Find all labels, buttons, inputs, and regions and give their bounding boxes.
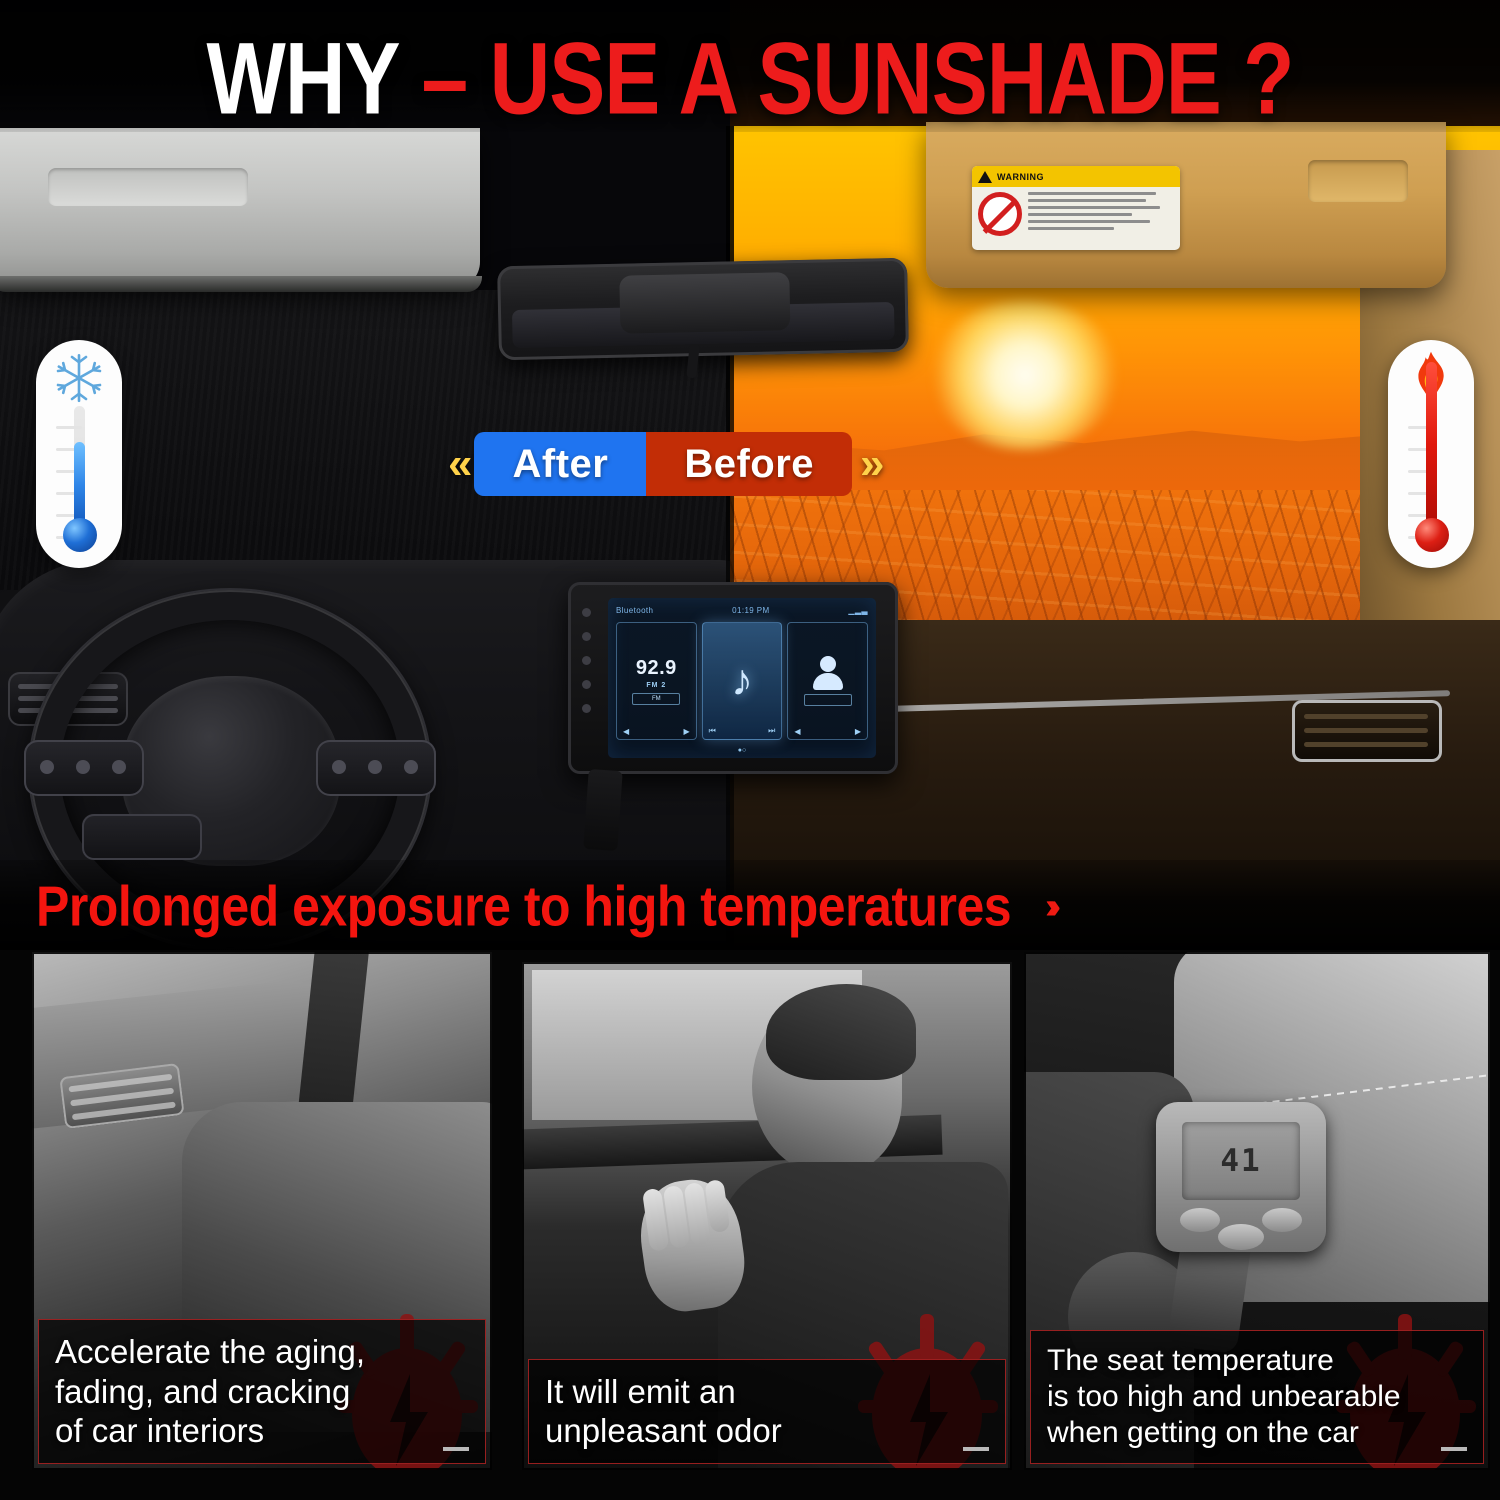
rear-headrest-reflection bbox=[619, 272, 790, 334]
clock-label: 01:19 PM bbox=[732, 606, 769, 615]
panel-unpleasant-odor: It will emit an unpleasant odor bbox=[522, 962, 1012, 1470]
media-card[interactable]: ♪ ⏮ ⏭ bbox=[702, 622, 783, 740]
steering-control-right bbox=[316, 740, 436, 796]
subtitle-text: Prolonged exposure to high temperatures bbox=[36, 873, 1011, 939]
title-use-a-sunshade: – USE A SUNSHADE ? bbox=[400, 27, 1294, 129]
caption-line: of car interiors bbox=[55, 1411, 471, 1451]
radio-preset-chip[interactable]: FM bbox=[632, 693, 680, 705]
visor-mirror-slot bbox=[1308, 160, 1408, 202]
media-controls[interactable]: ⏮ ⏭ bbox=[709, 726, 776, 736]
chevron-left-icon: « bbox=[440, 439, 474, 489]
sun-icon bbox=[930, 300, 1120, 450]
warning-bar: WARNING bbox=[972, 166, 1180, 187]
man-hair bbox=[766, 984, 916, 1080]
head-unit-side-buttons[interactable] bbox=[582, 608, 591, 713]
sun-visor-tan: WARNING bbox=[926, 122, 1446, 288]
caption-line: is too high and unbearable bbox=[1047, 1379, 1469, 1415]
media-prev-icon[interactable]: ⏮ bbox=[709, 726, 716, 736]
infrared-thermometer: 41 bbox=[1156, 1102, 1326, 1252]
caption-underscore bbox=[963, 1447, 989, 1451]
thermometer-button-left[interactable] bbox=[1180, 1208, 1220, 1232]
before-after-toggle[interactable]: « After Before » bbox=[440, 432, 887, 496]
rearview-mirror bbox=[497, 258, 909, 361]
panel-3-caption: The seat temperature is too high and unb… bbox=[1030, 1330, 1484, 1464]
thermometer-mercury-hot bbox=[1426, 362, 1437, 528]
split-seam bbox=[726, 126, 734, 950]
sun-visor-cool bbox=[0, 128, 480, 288]
visor-warning-label: WARNING bbox=[972, 166, 1180, 250]
caption-underscore bbox=[443, 1447, 469, 1451]
page-indicator: ●○ bbox=[608, 747, 876, 754]
infographic-root: WARNING bbox=[0, 0, 1500, 1500]
infotainment-screen[interactable]: Bluetooth 01:19 PM ▁▂▃ 92.9 FM 2 FM ◀ ▶ bbox=[608, 598, 876, 758]
no-rear-facing-child-seat-icon bbox=[978, 192, 1022, 236]
thermometer-display: 41 bbox=[1182, 1122, 1300, 1200]
warning-body bbox=[972, 187, 1180, 241]
caption-line: It will emit an bbox=[545, 1372, 991, 1412]
home-button-icon[interactable] bbox=[582, 632, 591, 641]
phone-nav-arrows[interactable]: ◀ ▶ bbox=[794, 727, 861, 736]
radio-frequency: 92.9 bbox=[636, 658, 677, 678]
media-next-icon[interactable]: ⏭ bbox=[768, 726, 775, 736]
steering-control-left bbox=[24, 740, 144, 796]
radio-band: FM 2 bbox=[646, 682, 666, 689]
consequence-panels: Accelerate the aging, fading, and cracki… bbox=[0, 952, 1500, 1500]
media-button-icon[interactable] bbox=[582, 680, 591, 689]
caption-line: unpleasant odor bbox=[545, 1411, 991, 1451]
sun-visor-cool-edge bbox=[0, 276, 482, 292]
caption-line: Accelerate the aging, bbox=[55, 1332, 471, 1372]
thermometer-bulb-hot bbox=[1415, 518, 1449, 552]
hot-thermometer bbox=[1388, 340, 1474, 568]
phone-prev-icon[interactable]: ◀ bbox=[794, 727, 800, 736]
steering-wheel-lower-pad bbox=[82, 814, 202, 860]
volume-button-icon[interactable] bbox=[582, 656, 591, 665]
caption-line: when getting on the car bbox=[1047, 1415, 1469, 1451]
thermometer-bulb-cold bbox=[63, 518, 97, 552]
panel-2-caption: It will emit an unpleasant odor bbox=[528, 1359, 1006, 1464]
temperature-reading: 41 bbox=[1220, 1143, 1261, 1179]
warning-text-lines bbox=[1028, 192, 1160, 236]
bluetooth-status-label: Bluetooth bbox=[616, 606, 653, 615]
music-note-icon: ♪ bbox=[731, 659, 753, 703]
menu-button-icon[interactable] bbox=[582, 704, 591, 713]
chevron-right-icon: » bbox=[852, 439, 886, 489]
snowflake-icon bbox=[36, 350, 122, 413]
title-why: WHY bbox=[207, 27, 400, 129]
panel-interior-aging: Accelerate the aging, fading, and cracki… bbox=[32, 952, 492, 1470]
air-vent-right bbox=[1292, 700, 1442, 762]
caption-line: The seat temperature bbox=[1047, 1343, 1469, 1379]
infotainment-head-unit: Bluetooth 01:19 PM ▁▂▃ 92.9 FM 2 FM ◀ ▶ bbox=[568, 582, 898, 774]
phone-chip[interactable] bbox=[804, 694, 852, 706]
contact-person-icon bbox=[813, 656, 843, 690]
radio-next-icon[interactable]: ▶ bbox=[684, 727, 690, 736]
power-button-icon[interactable] bbox=[582, 608, 591, 617]
caption-line: fading, and cracking bbox=[55, 1372, 471, 1412]
panel-1-caption: Accelerate the aging, fading, and cracki… bbox=[38, 1319, 486, 1464]
panel-seat-temperature: 41 The seat temper bbox=[1024, 952, 1490, 1470]
signal-icon: ▁▂▃ bbox=[848, 606, 868, 615]
radio-prev-icon[interactable]: ◀ bbox=[623, 727, 629, 736]
warning-heading: WARNING bbox=[997, 172, 1044, 182]
hero-comparison-scene: WARNING bbox=[0, 0, 1500, 950]
thermometer-button-center[interactable] bbox=[1218, 1224, 1264, 1250]
chevron-triple-icon: ››› bbox=[1027, 885, 1051, 927]
subtitle-band: Prolonged exposure to high temperatures … bbox=[0, 860, 1500, 950]
status-bar: Bluetooth 01:19 PM ▁▂▃ bbox=[616, 603, 868, 617]
phone-next-icon[interactable]: ▶ bbox=[855, 727, 861, 736]
warning-triangle-icon bbox=[978, 171, 992, 183]
after-badge[interactable]: After bbox=[474, 432, 646, 496]
thermometer-mercury-cold bbox=[74, 442, 85, 528]
phone-card[interactable]: ◀ ▶ bbox=[787, 622, 868, 740]
page-title: WHY – USE A SUNSHADE ? bbox=[0, 28, 1500, 128]
radio-nav-arrows[interactable]: ◀ ▶ bbox=[623, 727, 690, 736]
caption-underscore bbox=[1441, 1447, 1467, 1451]
before-badge[interactable]: Before bbox=[646, 432, 852, 496]
head-unit-mount-bracket bbox=[583, 769, 622, 851]
radio-card[interactable]: 92.9 FM 2 FM ◀ ▶ bbox=[616, 622, 697, 740]
thermometer-button-right[interactable] bbox=[1262, 1208, 1302, 1232]
screen-cards: 92.9 FM 2 FM ◀ ▶ ♪ ⏮ ⏭ bbox=[616, 622, 868, 740]
cold-thermometer bbox=[36, 340, 122, 568]
